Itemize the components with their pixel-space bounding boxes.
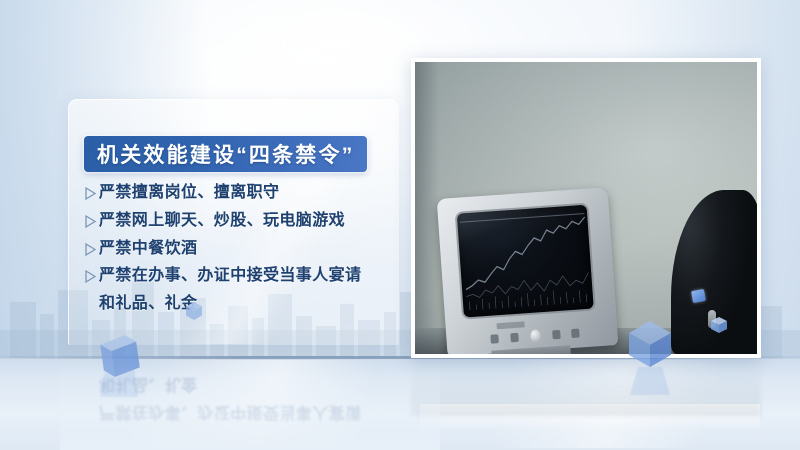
cube-reflection xyxy=(628,358,672,395)
screenshot-root: 机关效能建设“四条禁令” 严禁擅离岗位、擅离职守 严禁网上聊天、炒股、玩电脑游戏… xyxy=(0,0,800,450)
list-item: 严禁中餐饮酒 xyxy=(84,239,394,260)
photo-reflection xyxy=(411,360,761,416)
stock-chart-line xyxy=(457,205,594,318)
crt-monitor-icon xyxy=(437,188,619,354)
monitor-power-knob xyxy=(530,330,542,343)
triangle-right-outline-icon xyxy=(84,186,95,200)
blue-cube-icon xyxy=(710,316,728,334)
title-banner: 机关效能建设“四条禁令” xyxy=(84,136,367,172)
list-item: 严禁擅离岗位、擅离职守 xyxy=(84,183,394,204)
rules-list: 严禁擅离岗位、擅离职守 严禁网上聊天、炒股、玩电脑游戏 严禁中餐饮酒 严禁在办事… xyxy=(84,183,394,322)
monitor-button xyxy=(552,330,561,339)
photo-frame xyxy=(411,58,761,358)
monitor-button xyxy=(511,333,520,342)
triangle-right-outline-icon xyxy=(84,214,95,228)
blue-hex-cube-icon xyxy=(183,300,205,322)
list-item-label: 严禁网上聊天、炒股、玩电脑游戏 xyxy=(99,211,345,232)
list-item-label: 严禁中餐饮酒 xyxy=(99,239,197,260)
triangle-right-outline-icon xyxy=(84,269,95,283)
reflection-line-a: 严禁在办事、办证中接受当事人宴请 xyxy=(99,401,361,422)
monitor-button xyxy=(572,329,581,338)
list-item-label: 严禁擅离岗位、擅离职守 xyxy=(99,183,279,204)
list-item: 严禁在办事、办证中接受当事人宴请 xyxy=(84,266,394,287)
wall-edge-shadow xyxy=(415,62,439,354)
monitor-screen xyxy=(457,205,594,318)
cube-reflection xyxy=(98,358,144,397)
triangle-right-outline-icon xyxy=(84,242,95,256)
blue-badge-icon xyxy=(691,289,706,303)
monitor-button xyxy=(491,335,500,344)
list-item-label: 严禁在办事、办证中接受当事人宴请 xyxy=(99,266,361,287)
office-photo xyxy=(415,62,757,354)
list-item: 严禁网上聊天、炒股、玩电脑游戏 xyxy=(84,211,394,232)
title-banner-text: 机关效能建设“四条禁令” xyxy=(97,139,354,169)
list-item-continuation: 和礼品、礼金 xyxy=(99,294,394,315)
